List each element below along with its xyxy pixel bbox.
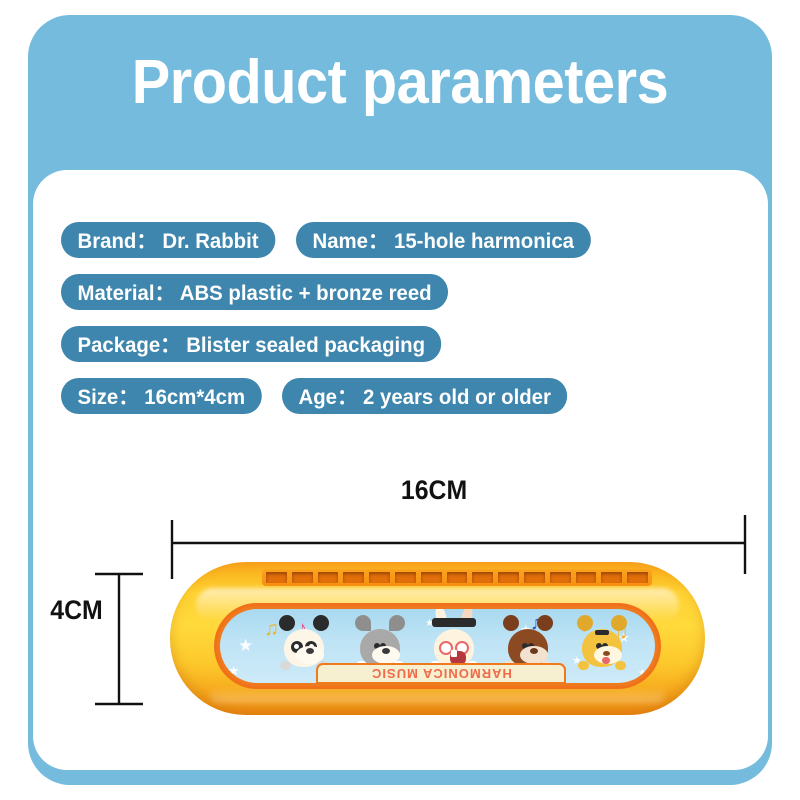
animal-panda: [278, 615, 330, 667]
body-bottom-highlight: [210, 687, 665, 703]
harmonica-hole: [343, 572, 364, 583]
music-note-icon: ♫: [264, 621, 279, 638]
harmonica-hole: [550, 572, 571, 583]
harmonica-hole: [601, 572, 622, 583]
parameter-row: Material： ABS plastic + bronze reed: [33, 274, 768, 310]
product-image-harmonica: ★ ★ ★ ★ ★ ★ ★ ★ ♪ ♫ ♫ ♪ ♫: [170, 562, 705, 715]
harmonica-hole: [498, 572, 519, 583]
banner-text: HARMONICA MUSIC: [371, 666, 512, 681]
parameters-card: Brand： Dr. Rabbit Name： 15-hole harmonic…: [33, 170, 768, 770]
graduation-cap-icon: [432, 618, 476, 627]
height-dimension-label: 4CM: [50, 595, 102, 626]
sticker-artwork: ★ ★ ★ ★ ★ ★ ★ ★ ♪ ♫ ♫ ♪ ♫: [220, 609, 655, 683]
animal-bear: [502, 615, 554, 667]
parameter-pill-package[interactable]: Package： Blister sealed packaging: [61, 326, 442, 362]
parameter-pill-material[interactable]: Material： ABS plastic + bronze reed: [61, 274, 448, 310]
sticker-banner: HARMONICA MUSIC: [316, 663, 566, 683]
harmonica-hole: [369, 572, 390, 583]
animal-rabbit: [428, 615, 480, 667]
star-icon: ★: [238, 639, 253, 652]
sticker-bezel: ★ ★ ★ ★ ★ ★ ★ ★ ♪ ♫ ♫ ♪ ♫: [214, 603, 661, 689]
parameter-pill-size[interactable]: Size： 16cm*4cm: [61, 378, 262, 414]
harmonica-hole: [318, 572, 339, 583]
animal-dog: [354, 615, 406, 667]
parameter-pill-age[interactable]: Age： 2 years old or older: [282, 378, 567, 414]
harmonica-hole: [627, 572, 648, 583]
harmonica-hole: [421, 572, 442, 583]
parameter-row: Size： 16cm*4cm Age： 2 years old or older: [33, 378, 768, 414]
harmonica-hole: [292, 572, 313, 583]
page-title: Product parameters: [54, 52, 746, 114]
parameter-pill-name[interactable]: Name： 15-hole harmonica: [296, 222, 590, 258]
parameter-pill-brand[interactable]: Brand： Dr. Rabbit: [61, 222, 275, 258]
parameter-row: Package： Blister sealed packaging: [33, 326, 768, 362]
harmonica-hole: [472, 572, 493, 583]
harmonica-hole: [266, 572, 287, 583]
harmonica-hole: [447, 572, 468, 583]
star-icon: ★: [638, 667, 647, 680]
harmonica-hole: [576, 572, 597, 583]
harmonica-hole: [395, 572, 416, 583]
width-dimension-label: 16CM: [401, 475, 467, 506]
harmonica-hole: [524, 572, 545, 583]
star-icon: ★: [228, 664, 240, 677]
parameter-row: Brand： Dr. Rabbit Name： 15-hole harmonic…: [33, 222, 768, 258]
animal-tiger: [576, 615, 628, 667]
harmonica-hole-row: [262, 569, 652, 586]
